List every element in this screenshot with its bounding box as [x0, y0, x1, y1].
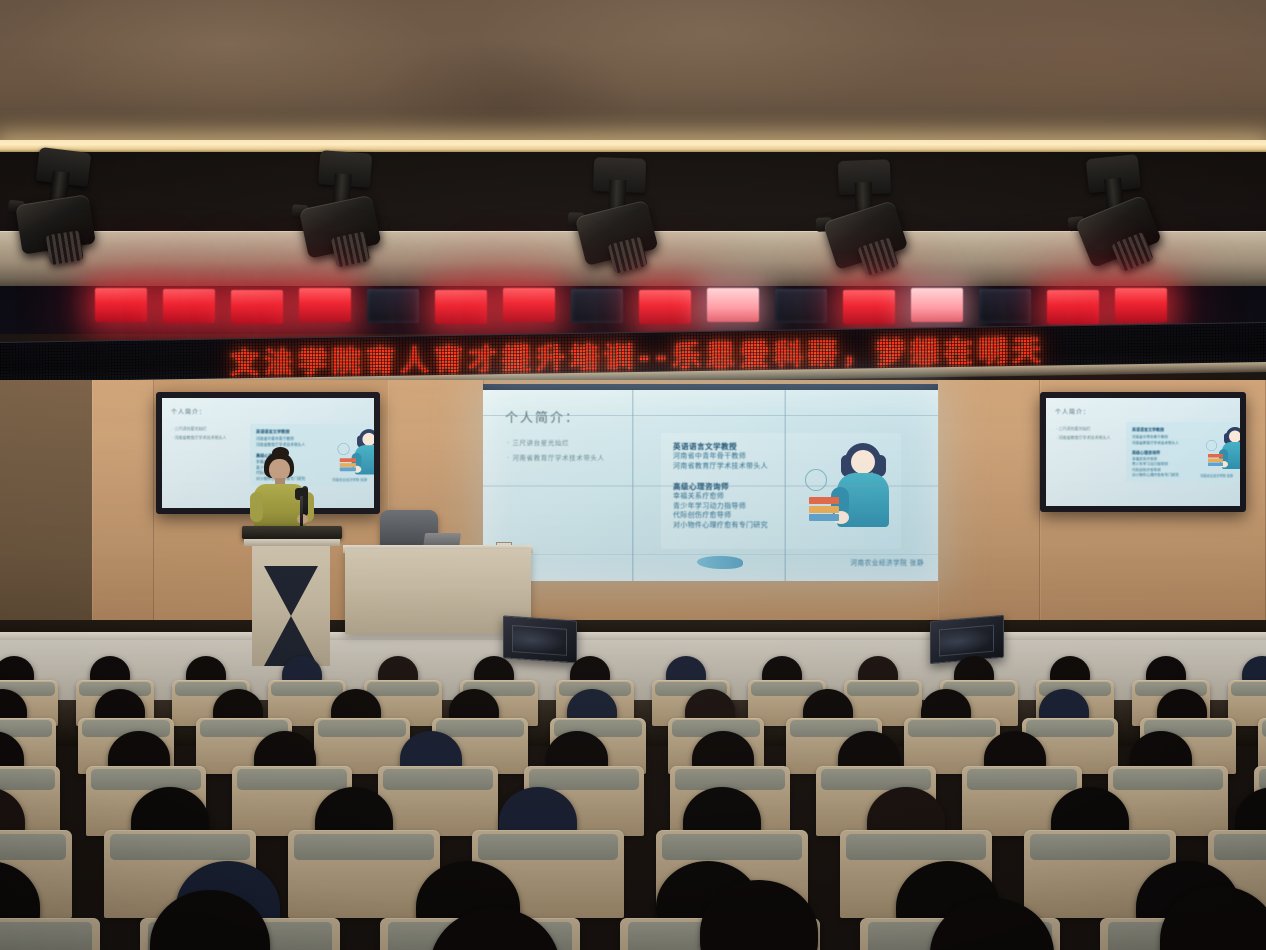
- stage-spotlight-icon: [1056, 150, 1186, 287]
- presenter-illustration-icon: [831, 441, 895, 539]
- wash-light: [503, 288, 555, 322]
- stage-spotlight-icon: [560, 156, 682, 285]
- slide-card-line: 代际创伤疗愈导师: [673, 511, 768, 521]
- wash-light: [707, 288, 759, 322]
- wash-light: [367, 289, 419, 323]
- audience-area: [0, 640, 1266, 950]
- stage-spotlight-icon: [808, 158, 930, 287]
- stage-spotlight-icon: [282, 148, 408, 281]
- slide-card-line: 对小物件心理疗愈有专门研究: [673, 521, 768, 531]
- wash-light: [571, 289, 623, 323]
- audience-seat: [378, 766, 498, 836]
- wash-light: [911, 288, 963, 322]
- right-display-card-line: 河南省教育厅学术技术带头人: [1132, 440, 1179, 446]
- audience-seat: [0, 918, 100, 950]
- slide-bullet: · 河南省教育厅学术技术带头人: [507, 451, 605, 466]
- left-display-bullet: · 三尺讲台星光灿烂: [172, 424, 226, 433]
- left-display-title: 个人简介：: [171, 407, 206, 416]
- ceiling-texture: [0, 0, 1266, 152]
- wash-light: [1115, 288, 1167, 322]
- right-display-title: 个人简介：: [1055, 407, 1090, 416]
- wash-light: [775, 289, 827, 323]
- wash-light: [299, 288, 351, 322]
- right-display-bullet: · 河南省教育厅学术技术带头人: [1056, 433, 1110, 442]
- slide-card-line: 河南省中青年骨干教师: [673, 452, 768, 462]
- right-display-card-heading: 高级心理咨询师: [1132, 450, 1160, 456]
- wash-light: [1047, 290, 1099, 324]
- slide-bullet: · 三尺讲台星光灿烂: [507, 436, 605, 451]
- presenter-illustration-icon: [352, 428, 370, 456]
- right-display-screen: 个人简介： · 三尺讲台星光灿烂 · 河南省教育厅学术技术带头人 英语语言文学教…: [1046, 398, 1240, 506]
- slide-card-line: 青少年学习动力指导师: [673, 502, 768, 512]
- stage-spotlight-icon: [0, 143, 127, 281]
- auditorium-photo: 文法学院育人育才提升培训--乐思爱科研，梦想在明天 个人简介： · 三尺讲台星光…: [0, 0, 1266, 950]
- wash-light: [163, 289, 215, 323]
- left-display-card-heading: 英语语言文学教授: [256, 429, 290, 435]
- slide-card-line: 河南省教育厅学术技术带头人: [673, 462, 768, 472]
- right-wall-display: 个人简介： · 三尺讲台星光灿烂 · 河南省教育厅学术技术带头人 英语语言文学教…: [1040, 392, 1246, 512]
- right-display-bullet: · 三尺讲台星光灿烂: [1056, 424, 1110, 433]
- right-display-card-heading: 英语语言文学教授: [1132, 427, 1164, 433]
- wash-light: [95, 288, 147, 322]
- slide-card-heading: 高级心理咨询师: [673, 481, 768, 492]
- slide-card-heading: 英语语言文学教授: [673, 441, 768, 452]
- wash-light: [843, 290, 895, 324]
- right-display-attribution: 河南农业经济学院 张静: [1200, 473, 1233, 478]
- left-display-attribution: 河南农业经济学院 张静: [332, 477, 367, 482]
- slide-attribution: 河南农业经济学院 张静: [850, 557, 924, 567]
- slide-card-line: 幸福关系疗愈师: [673, 492, 768, 502]
- slide-bullets: · 三尺讲台星光灿烂 · 河南省教育厅学术技术带头人: [507, 436, 605, 466]
- wash-light: [231, 290, 283, 324]
- left-display-bullet: · 河南省教育厅学术技术带头人: [172, 433, 226, 442]
- right-display-card-line: 对小物件心理疗愈有专门研究: [1132, 473, 1179, 478]
- slide-content-card: 英语语言文学教授 河南省中青年骨干教师 河南省教育厅学术技术带头人 高级心理咨询…: [661, 433, 901, 549]
- wash-light: [639, 290, 691, 324]
- main-projection-screen: 个人简介： · 三尺讲台星光灿烂 · 河南省教育厅学术技术带头人 英语语言文学教…: [483, 390, 938, 581]
- wash-light: [979, 289, 1031, 323]
- slide-decorative-shape: [697, 556, 743, 569]
- ceiling: [0, 0, 1266, 152]
- presenter-illustration-icon: [1219, 426, 1236, 452]
- wash-light: [435, 290, 487, 324]
- slide-title: 个人简介：: [505, 407, 580, 426]
